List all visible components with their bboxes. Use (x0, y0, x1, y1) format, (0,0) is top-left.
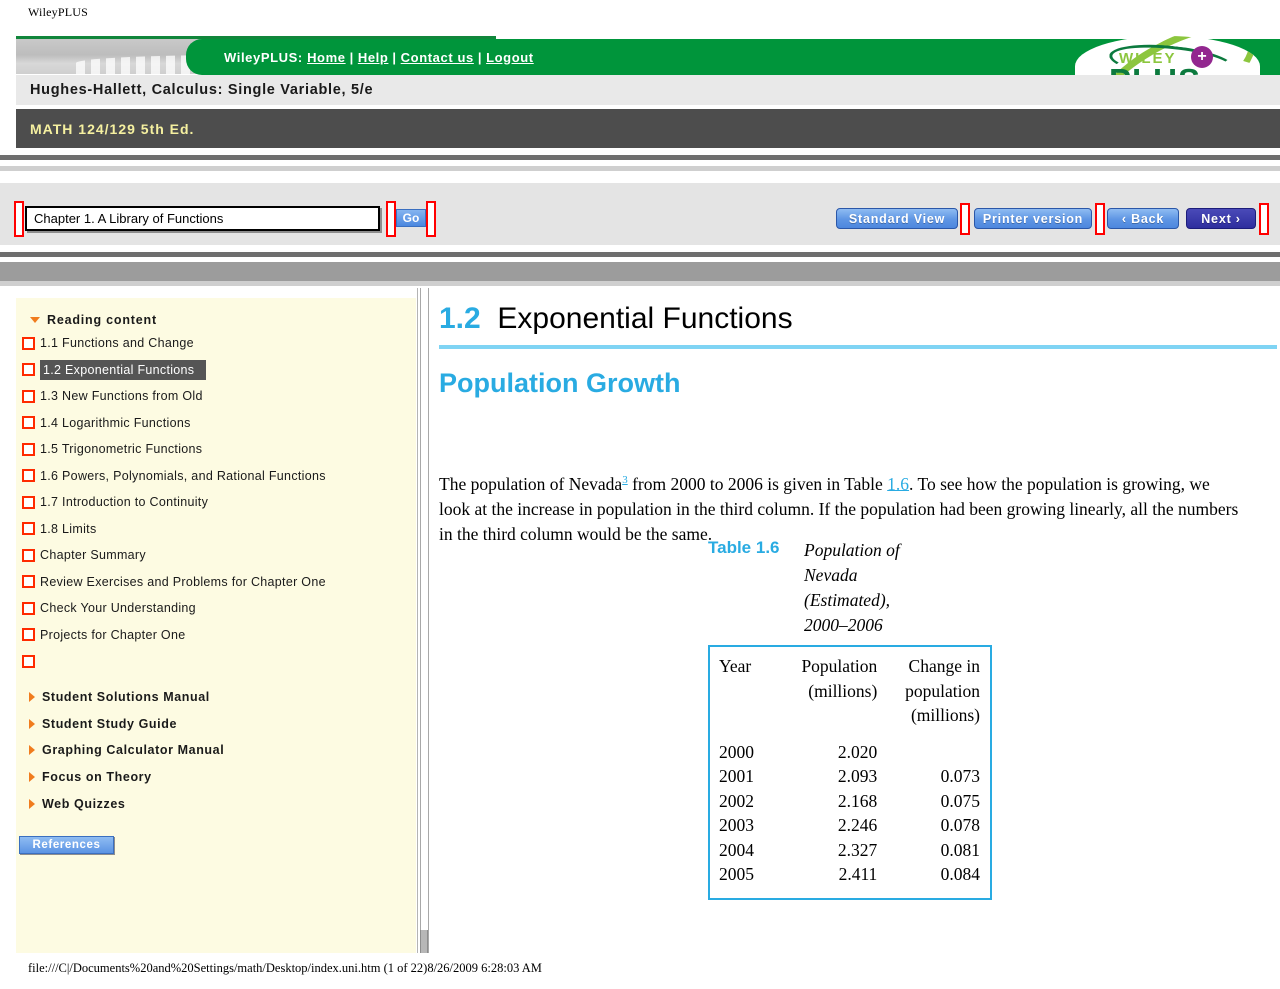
sidebar-item-check-your-understanding[interactable]: Check Your Understanding (16, 595, 416, 622)
header-population: Population (776, 646, 880, 679)
header-change-units: (millions) (880, 703, 991, 728)
sidebar-section-student-solutions-manual[interactable]: Student Solutions Manual (16, 684, 416, 711)
cell-year: 2005 (709, 862, 776, 899)
footer-status-text: file:///C|/Documents%20and%20Settings/ma… (28, 961, 542, 976)
annotation-marker-next (1259, 203, 1269, 235)
scrollbar-thumb[interactable] (420, 930, 428, 954)
checkbox-icon[interactable] (22, 390, 35, 403)
checkbox-icon[interactable] (22, 496, 35, 509)
table-header-row-3: (millions) (709, 703, 991, 728)
checkbox-icon[interactable] (22, 655, 35, 668)
cell-change: 0.075 (880, 789, 991, 814)
header-change: Change in (880, 646, 991, 679)
subsection-title: Population Growth (439, 368, 680, 399)
table-caption: Table 1.6 Population of Nevada (Estimate… (708, 538, 998, 638)
next-button[interactable]: Next › (1186, 208, 1256, 229)
page-footer: file:///C|/Documents%20and%20Settings/ma… (0, 953, 1280, 989)
sidebar-section-label: Graphing Calculator Manual (42, 743, 224, 757)
table-block: Table 1.6 Population of Nevada (Estimate… (708, 538, 998, 900)
table-caption-line-1: Population of (804, 540, 900, 560)
cell-population: 2.411 (776, 862, 880, 899)
back-button[interactable]: ‹ Back (1107, 208, 1179, 229)
table-caption-line-2: Nevada (804, 565, 857, 585)
site-banner: WileyPLUS: Home | Help | Contact us | Lo… (16, 36, 1280, 148)
sidebar-heading-label: Reading content (47, 313, 157, 327)
header-year-sub (709, 679, 776, 704)
table-row: 2001 2.093 0.073 (709, 764, 991, 789)
cell-population: 2.168 (776, 789, 880, 814)
sidebar-section-label: Student Study Guide (42, 717, 177, 731)
nav-separator-1: | (346, 50, 358, 65)
cell-change: 0.073 (880, 764, 991, 789)
nav-separator-3: | (474, 50, 486, 65)
cell-year: 2002 (709, 789, 776, 814)
annotation-marker-left-select (14, 201, 24, 237)
divider-dark-toolbar (0, 252, 1280, 257)
sidebar-item-1-8[interactable]: 1.8 Limits (16, 516, 416, 543)
print-header-title: WileyPLUS (28, 5, 88, 20)
main-content: 1.2 Exponential Functions Population Gro… (430, 288, 1280, 953)
cell-population: 2.246 (776, 813, 880, 838)
checkbox-icon[interactable] (22, 628, 35, 641)
sidebar-section-label: Student Solutions Manual (42, 690, 210, 704)
checkbox-icon[interactable] (22, 549, 35, 562)
nav-link-contact-us[interactable]: Contact us (401, 50, 474, 65)
table-caption-line-3: (Estimated), (804, 590, 890, 610)
cell-change: 0.084 (880, 862, 991, 899)
sidebar-item-1-2[interactable]: 1.2 Exponential Functions (16, 357, 416, 384)
sidebar-item-label: 1.6 Powers, Polynomials, and Rational Fu… (40, 469, 326, 483)
sidebar-section-focus-on-theory[interactable]: Focus on Theory (16, 764, 416, 791)
table-row: 2003 2.246 0.078 (709, 813, 991, 838)
caret-down-icon (30, 317, 40, 323)
table-row: 2005 2.411 0.084 (709, 862, 991, 899)
cell-population: 2.093 (776, 764, 880, 789)
sidebar-section-web-quizzes[interactable]: Web Quizzes (16, 790, 416, 817)
cell-year: 2003 (709, 813, 776, 838)
annotation-marker-go (426, 201, 436, 237)
sidebar-item-label: Check Your Understanding (40, 601, 196, 615)
sidebar-item-1-7[interactable]: 1.7 Introduction to Continuity (16, 489, 416, 516)
book-title-bar: Hughes-Hallett, Calculus: Single Variabl… (16, 75, 1280, 105)
checkbox-icon[interactable] (22, 363, 35, 376)
title-underline-rule (439, 345, 1277, 349)
checkbox-icon[interactable] (22, 443, 35, 456)
sidebar-item-label: Projects for Chapter One (40, 628, 185, 642)
sidebar-item-label: 1.3 New Functions from Old (40, 389, 203, 403)
table-head: Year Population Change in (millions) pop… (709, 646, 991, 728)
table-row: 2002 2.168 0.075 (709, 789, 991, 814)
table-body: 2000 2.020 2001 2.093 0.073 2002 2.168 0… (709, 728, 991, 899)
sidebar-heading-reading-content[interactable]: Reading content (16, 310, 416, 330)
table-row: 2000 2.020 (709, 728, 991, 765)
sidebar-item-label-selected: 1.2 Exponential Functions (40, 360, 206, 380)
sidebar-section-label: Web Quizzes (42, 797, 125, 811)
body-paragraph: The population of Nevada3 from 2000 to 2… (439, 468, 1239, 548)
caret-right-icon (29, 745, 35, 755)
table-caption-text: Population of Nevada (Estimated), 2000–2… (804, 538, 900, 638)
sidebar-item-1-4[interactable]: 1.4 Logarithmic Functions (16, 410, 416, 437)
cell-change: 0.078 (880, 813, 991, 838)
sidebar-item-1-3[interactable]: 1.3 New Functions from Old (16, 383, 416, 410)
table-reference-link[interactable]: 1.6 (887, 473, 909, 493)
sidebar-item-label: 1.7 Introduction to Continuity (40, 495, 208, 509)
table-label: Table 1.6 (708, 538, 804, 558)
sidebar-item-projects[interactable]: Projects for Chapter One (16, 622, 416, 649)
cell-population: 2.020 (776, 728, 880, 765)
checkbox-icon[interactable] (22, 416, 35, 429)
header-change-sub: population (880, 679, 991, 704)
references-button[interactable]: References (19, 836, 114, 854)
sidebar: Reading content 1.1 Functions and Change… (16, 298, 416, 953)
header-population-units: (millions) (776, 679, 880, 704)
annotation-marker-standard-view (960, 203, 970, 235)
annotation-marker-printer-version (1095, 203, 1105, 235)
sidebar-section-student-study-guide[interactable]: Student Study Guide (16, 710, 416, 737)
divider-light-top (0, 166, 1280, 171)
checkbox-icon[interactable] (22, 469, 35, 482)
sidebar-item-label: 1.1 Functions and Change (40, 336, 194, 350)
cell-change: 0.081 (880, 838, 991, 863)
sidebar-item-label: 1.8 Limits (40, 522, 97, 536)
go-button[interactable]: Go (396, 209, 426, 227)
paragraph-part-2: from 2000 to 2006 is given in Table (628, 473, 887, 493)
annotation-marker-right-select (386, 201, 396, 237)
checkbox-icon[interactable] (22, 602, 35, 615)
caret-right-icon (29, 772, 35, 782)
header-population-sub2 (776, 703, 880, 728)
sidebar-item-blank[interactable] (16, 648, 416, 675)
chapter-select[interactable]: Chapter 1. A Library of Functions (25, 206, 380, 231)
population-table: Year Population Change in (millions) pop… (708, 645, 992, 900)
checkbox-icon[interactable] (22, 575, 35, 588)
sidebar-item-1-6[interactable]: 1.6 Powers, Polynomials, and Rational Fu… (16, 463, 416, 490)
sidebar-item-label: 1.5 Trigonometric Functions (40, 442, 202, 456)
sidebar-item-chapter-summary[interactable]: Chapter Summary (16, 542, 416, 569)
table-caption-line-4: 2000–2006 (804, 615, 883, 635)
banner-brand-label: WileyPLUS: (224, 50, 303, 65)
checkbox-icon[interactable] (22, 522, 35, 535)
nav-link-logout[interactable]: Logout (486, 50, 534, 65)
cell-population: 2.327 (776, 838, 880, 863)
printer-version-button[interactable]: Printer version (974, 208, 1092, 229)
caret-right-icon (29, 692, 35, 702)
sidebar-section-label: Focus on Theory (42, 770, 152, 784)
header-year-sub2 (709, 703, 776, 728)
standard-view-button[interactable]: Standard View (836, 208, 958, 229)
panel-divider (420, 288, 429, 953)
book-title: Hughes-Hallett, Calculus: Single Variabl… (16, 82, 373, 98)
nav-link-help[interactable]: Help (358, 50, 389, 65)
cell-year: 2001 (709, 764, 776, 789)
divider-dark-top (0, 155, 1280, 160)
course-title: MATH 124/129 5th Ed. (16, 121, 194, 137)
page-title: 1.2 Exponential Functions (439, 302, 793, 336)
sidebar-item-1-5[interactable]: 1.5 Trigonometric Functions (16, 436, 416, 463)
cell-year: 2004 (709, 838, 776, 863)
course-bar: MATH 124/129 5th Ed. (16, 109, 1280, 148)
paragraph-part-1: The population of Nevada (439, 473, 622, 493)
sidebar-item-label: Review Exercises and Problems for Chapte… (40, 575, 326, 589)
sidebar-section-graphing-calculator-manual[interactable]: Graphing Calculator Manual (16, 737, 416, 764)
section-number: 1.2 (439, 302, 481, 335)
caret-right-icon (29, 799, 35, 809)
nav-link-home[interactable]: Home (307, 50, 346, 65)
table-header-row-2: (millions) population (709, 679, 991, 704)
section-title: Exponential Functions (497, 302, 792, 335)
sidebar-item-1-1[interactable]: 1.1 Functions and Change (16, 330, 416, 357)
sidebar-item-label: Chapter Summary (40, 548, 146, 562)
cell-change (880, 728, 991, 765)
table-header-row-1: Year Population Change in (709, 646, 991, 679)
caret-right-icon (29, 719, 35, 729)
header-year: Year (709, 646, 776, 679)
sidebar-item-review-exercises[interactable]: Review Exercises and Problems for Chapte… (16, 569, 416, 596)
cell-year: 2000 (709, 728, 776, 765)
divider-content-top (0, 281, 1280, 286)
sidebar-item-label: 1.4 Logarithmic Functions (40, 416, 191, 430)
table-row: 2004 2.327 0.081 (709, 838, 991, 863)
nav-separator-2: | (388, 50, 400, 65)
checkbox-icon[interactable] (22, 337, 35, 350)
